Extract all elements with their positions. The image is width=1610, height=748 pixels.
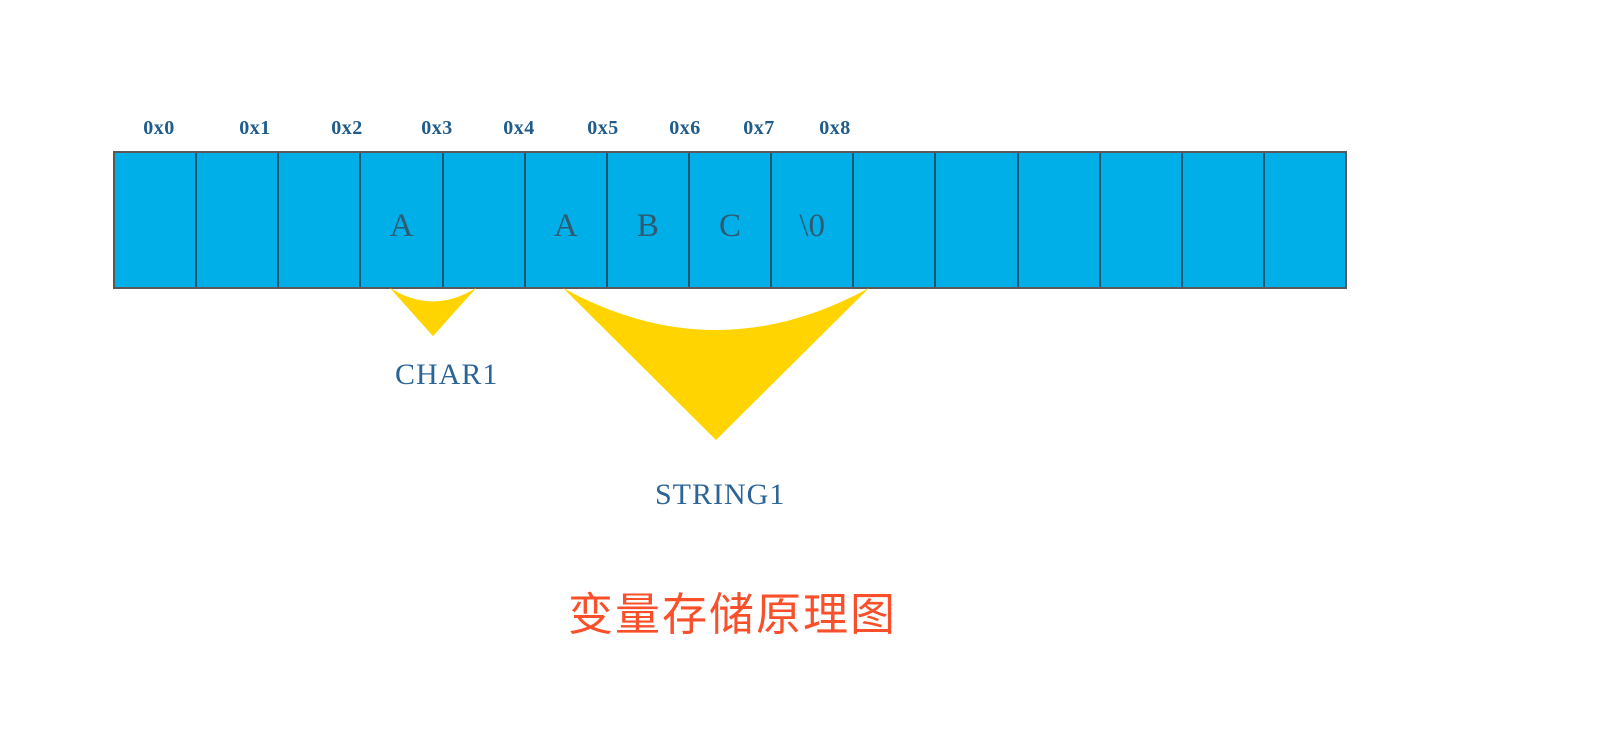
address-label-0x8: 0x8	[789, 115, 881, 141]
address-label-0x3: 0x3	[391, 115, 483, 141]
memory-cell-14	[1265, 153, 1345, 287]
memory-cell-value: B	[637, 210, 659, 243]
address-label-0x5: 0x5	[557, 115, 649, 141]
figure-caption: 变量存储原理图	[0, 588, 1465, 642]
memory-cell-0x5: A	[526, 153, 608, 287]
memory-cell-0x4	[444, 153, 526, 287]
memory-cell-0x0	[115, 153, 197, 287]
address-label-0x0: 0x0	[113, 115, 205, 141]
memory-cell-0x1	[197, 153, 279, 287]
memory-cell-11	[1019, 153, 1101, 287]
memory-cell-12	[1101, 153, 1183, 287]
memory-cell-0x6: B	[608, 153, 690, 287]
memory-cell-value: C	[719, 210, 741, 243]
memory-cell-0x2	[279, 153, 361, 287]
memory-cell-0x3: A	[361, 153, 443, 287]
char1-pointer-icon	[390, 288, 476, 336]
memory-grid: A A B C \0	[113, 151, 1347, 289]
address-label-0x2: 0x2	[301, 115, 393, 141]
memory-layout-diagram: 0x0 0x1 0x2 0x3 0x4 0x5 0x6 0x7 0x8 A A …	[0, 0, 1610, 748]
memory-cell-value: A	[554, 210, 578, 243]
memory-cell-9	[854, 153, 936, 287]
char1-label: CHAR1	[395, 360, 479, 390]
memory-cell-0x7: C	[690, 153, 772, 287]
memory-cell-0x8: \0	[772, 153, 854, 287]
memory-cell-value: A	[390, 210, 414, 243]
address-label-0x1: 0x1	[209, 115, 301, 141]
address-label-row: 0x0 0x1 0x2 0x3 0x4 0x5 0x6 0x7 0x8	[113, 115, 1347, 143]
string1-label: STRING1	[655, 480, 777, 510]
string1-pointer-icon	[563, 288, 869, 440]
memory-cell-value: \0	[799, 210, 825, 243]
address-label-0x4: 0x4	[473, 115, 565, 141]
memory-cell-10	[936, 153, 1018, 287]
memory-cell-13	[1183, 153, 1265, 287]
